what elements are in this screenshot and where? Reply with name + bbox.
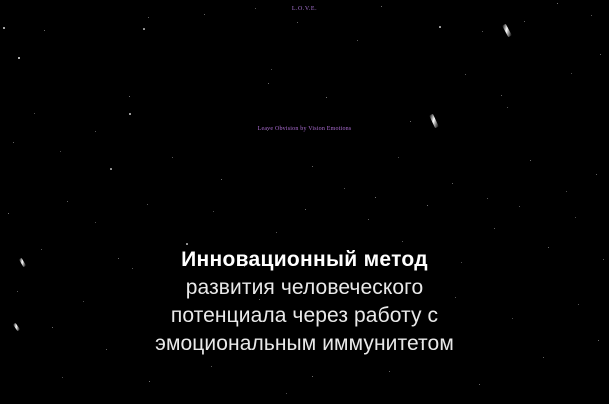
brand-tagline: Leave Obvision by Vision Emotions bbox=[0, 126, 609, 132]
description-lead: Инновационный метод bbox=[0, 246, 609, 274]
description-line-2: потенциала через работу с bbox=[0, 302, 609, 330]
description-block: Инновационный метод развития человеческо… bbox=[0, 246, 609, 358]
slide-content: L.O.V.E. Leave Obvision by Vision Emotio… bbox=[0, 0, 609, 404]
presentation-slide: L.O.V.E. Leave Obvision by Vision Emotio… bbox=[0, 0, 609, 404]
description-line-3: эмоциональным иммунитетом bbox=[0, 330, 609, 358]
brand-title: L.O.V.E. bbox=[0, 6, 609, 12]
description-line-1: развития человеческого bbox=[0, 274, 609, 302]
